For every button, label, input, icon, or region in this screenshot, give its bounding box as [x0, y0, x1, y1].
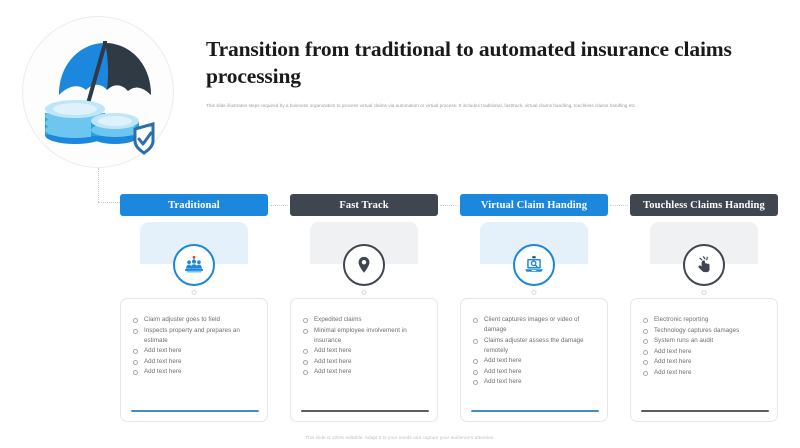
laptop-search-icon[interactable] [513, 244, 555, 286]
people-group-icon[interactable] [173, 244, 215, 286]
card-virtual-claim-handing: Client captures images or video of damag… [460, 298, 608, 422]
card-accent-bar [131, 410, 259, 413]
card-traditional: Claim adjuster goes to field Inspects pr… [120, 298, 268, 422]
column-header-row: Traditional Fast Track Virtual Claim Han… [120, 194, 780, 216]
list-item: Add text here [132, 357, 259, 367]
card-accent-bar [301, 410, 429, 413]
connector-dot [362, 290, 367, 295]
umbrella-over-coins-with-shield-icon [23, 17, 175, 169]
list-item: Inspects property and prepares an estima… [132, 326, 259, 346]
list-item: Add text here [302, 357, 429, 367]
page-title: Transition from traditional to automated… [206, 36, 776, 91]
list-item: Client captures images or video of damag… [472, 315, 599, 335]
bullet-list: Client captures images or video of damag… [472, 315, 599, 388]
list-item: Add text here [132, 367, 259, 377]
list-item: Minimal employee involvement in insuranc… [302, 326, 429, 346]
columns-container: Claim adjuster goes to field Inspects pr… [120, 222, 780, 422]
list-item: Expedited claims [302, 315, 429, 325]
location-pin-icon[interactable] [343, 244, 385, 286]
list-item: Electronic reporting [642, 315, 769, 325]
column-touchless-claims-handing: Electronic reporting Technology captures… [630, 222, 778, 422]
footer-note: This slide is 100% editable. Adapt it to… [0, 435, 800, 440]
column-spacer [608, 222, 630, 422]
hand-touch-icon[interactable] [683, 244, 725, 286]
list-item: Add text here [472, 356, 599, 366]
list-item: Technology captures damages [642, 326, 769, 336]
bullet-list: Electronic reporting Technology captures… [642, 315, 769, 378]
list-item: Add text here [642, 357, 769, 367]
column-header-fast-track[interactable]: Fast Track [290, 194, 438, 216]
bullet-list: Claim adjuster goes to field Inspects pr… [132, 315, 259, 378]
list-item: Add text here [472, 377, 599, 387]
column-spacer [438, 222, 460, 422]
column-header-virtual-claim-handing[interactable]: Virtual Claim Handing [460, 194, 608, 216]
column-header-touchless-claims-handing[interactable]: Touchless Claims Handing [630, 194, 778, 216]
column-virtual-claim-handing: Client captures images or video of damag… [460, 222, 608, 422]
hero-illustration-circle [22, 16, 174, 168]
connector-horizontal-line [98, 202, 120, 203]
list-item: Claim adjuster goes to field [132, 315, 259, 325]
list-item: Add text here [642, 347, 769, 357]
card-touchless-claims-handing: Electronic reporting Technology captures… [630, 298, 778, 422]
header-connector-1 [268, 194, 290, 216]
list-item: Add text here [132, 346, 259, 356]
header-connector-2 [438, 194, 460, 216]
column-fast-track: Expedited claims Minimal employee involv… [290, 222, 438, 422]
card-accent-bar [471, 410, 599, 413]
list-item: Claims adjuster assess the damage remote… [472, 336, 599, 356]
slide-root: Transition from traditional to automated… [0, 0, 800, 448]
list-item: Add text here [302, 367, 429, 377]
connector-vertical-line [98, 168, 99, 202]
bullet-list: Expedited claims Minimal employee involv… [302, 315, 429, 378]
header-connector-3 [608, 194, 630, 216]
title-block: Transition from traditional to automated… [206, 36, 776, 110]
list-item: Add text here [302, 346, 429, 356]
page-subtitle: This slide illustrates steps required by… [206, 102, 766, 110]
list-item: Add text here [472, 367, 599, 377]
list-item: Add text here [642, 368, 769, 378]
column-traditional: Claim adjuster goes to field Inspects pr… [120, 222, 268, 422]
column-spacer [268, 222, 290, 422]
connector-dot [702, 290, 707, 295]
connector-dot [192, 290, 197, 295]
list-item: System runs an audit [642, 336, 769, 346]
connector-dot [532, 290, 537, 295]
card-accent-bar [641, 410, 769, 413]
column-header-traditional[interactable]: Traditional [120, 194, 268, 216]
card-fast-track: Expedited claims Minimal employee involv… [290, 298, 438, 422]
